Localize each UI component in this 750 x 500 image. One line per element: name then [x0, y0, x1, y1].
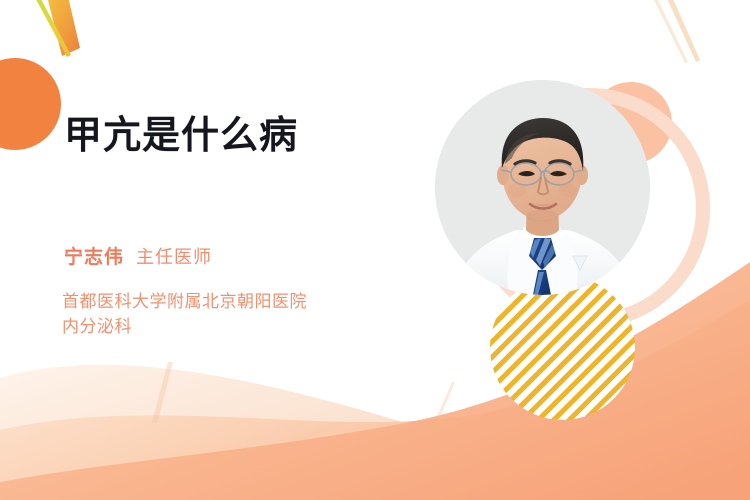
orange-circle-accent	[0, 58, 61, 150]
doctor-avatar	[435, 80, 650, 295]
page-title: 甲亢是什么病	[64, 116, 298, 158]
doctor-byline: 宁志伟主任医师	[64, 248, 212, 267]
striped-circle-accent	[490, 275, 635, 420]
doctor-rank: 主任医师	[136, 247, 212, 267]
department-name: 内分泌科	[62, 315, 307, 340]
doctor-video-card: 甲亢是什么病 宁志伟主任医师 首都医科大学附属北京朝阳医院 内分泌科	[0, 0, 750, 500]
doctor-name: 宁志伟	[64, 247, 124, 268]
doctor-affiliation: 首都医科大学附属北京朝阳医院 内分泌科	[62, 290, 307, 339]
doctor-photo-illustration	[435, 80, 650, 295]
diagonal-stripes	[490, 275, 635, 420]
doctor-portrait-group	[410, 60, 690, 390]
hospital-name: 首都医科大学附属北京朝阳医院	[62, 290, 307, 315]
